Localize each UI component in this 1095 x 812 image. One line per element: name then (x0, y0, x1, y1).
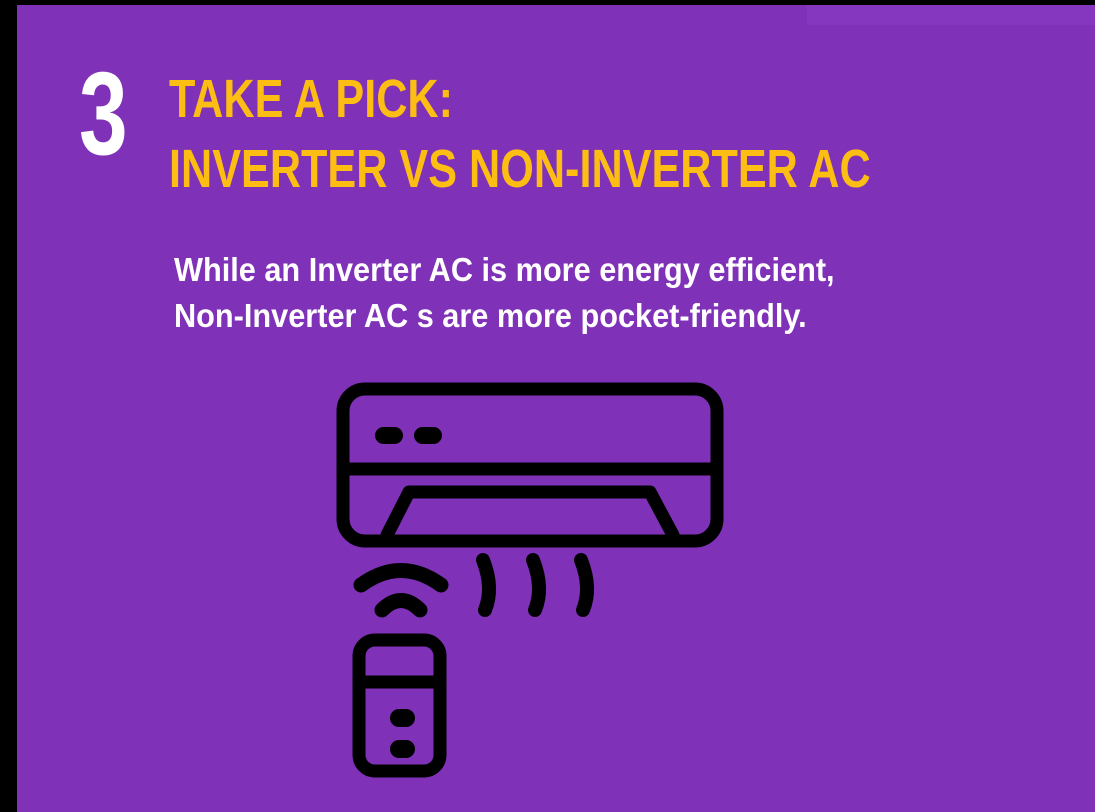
step-number: 3 (79, 55, 127, 173)
slide-panel: 3 TAKE A PICK: INVERTER VS NON-INVERTER … (17, 5, 1095, 812)
indicator-light-left (375, 427, 403, 444)
airflow-line-1 (483, 560, 489, 610)
remote-button-lower (390, 740, 415, 758)
signal-waves-icon (361, 571, 441, 611)
title-line-1: TAKE A PICK: (169, 71, 889, 127)
airflow-line-2 (533, 560, 539, 610)
signal-wave-inner (382, 601, 420, 611)
air-conditioner-illustration (317, 370, 737, 780)
subtitle-line-2: Non-Inverter AC s are more pocket-friend… (174, 293, 1011, 339)
subtitle-line-1: While an Inverter AC is more energy effi… (174, 247, 1011, 293)
airflow-line-3 (581, 560, 587, 610)
subtitle: While an Inverter AC is more energy effi… (174, 247, 1074, 339)
indicator-light-right (414, 427, 442, 444)
air-vent-flap (387, 492, 673, 535)
header: 3 TAKE A PICK: INVERTER VS NON-INVERTER … (17, 5, 1095, 235)
airflow-lines (483, 560, 587, 610)
page-title: TAKE A PICK: INVERTER VS NON-INVERTER AC (169, 71, 1069, 197)
remote-button-upper (390, 709, 415, 727)
infographic-canvas: 3 TAKE A PICK: INVERTER VS NON-INVERTER … (0, 0, 1095, 812)
title-line-2: INVERTER VS NON-INVERTER AC (169, 141, 889, 197)
split-ac-indoor-unit (343, 389, 717, 541)
signal-wave-outer (361, 571, 441, 586)
ac-remote-control (359, 640, 440, 771)
